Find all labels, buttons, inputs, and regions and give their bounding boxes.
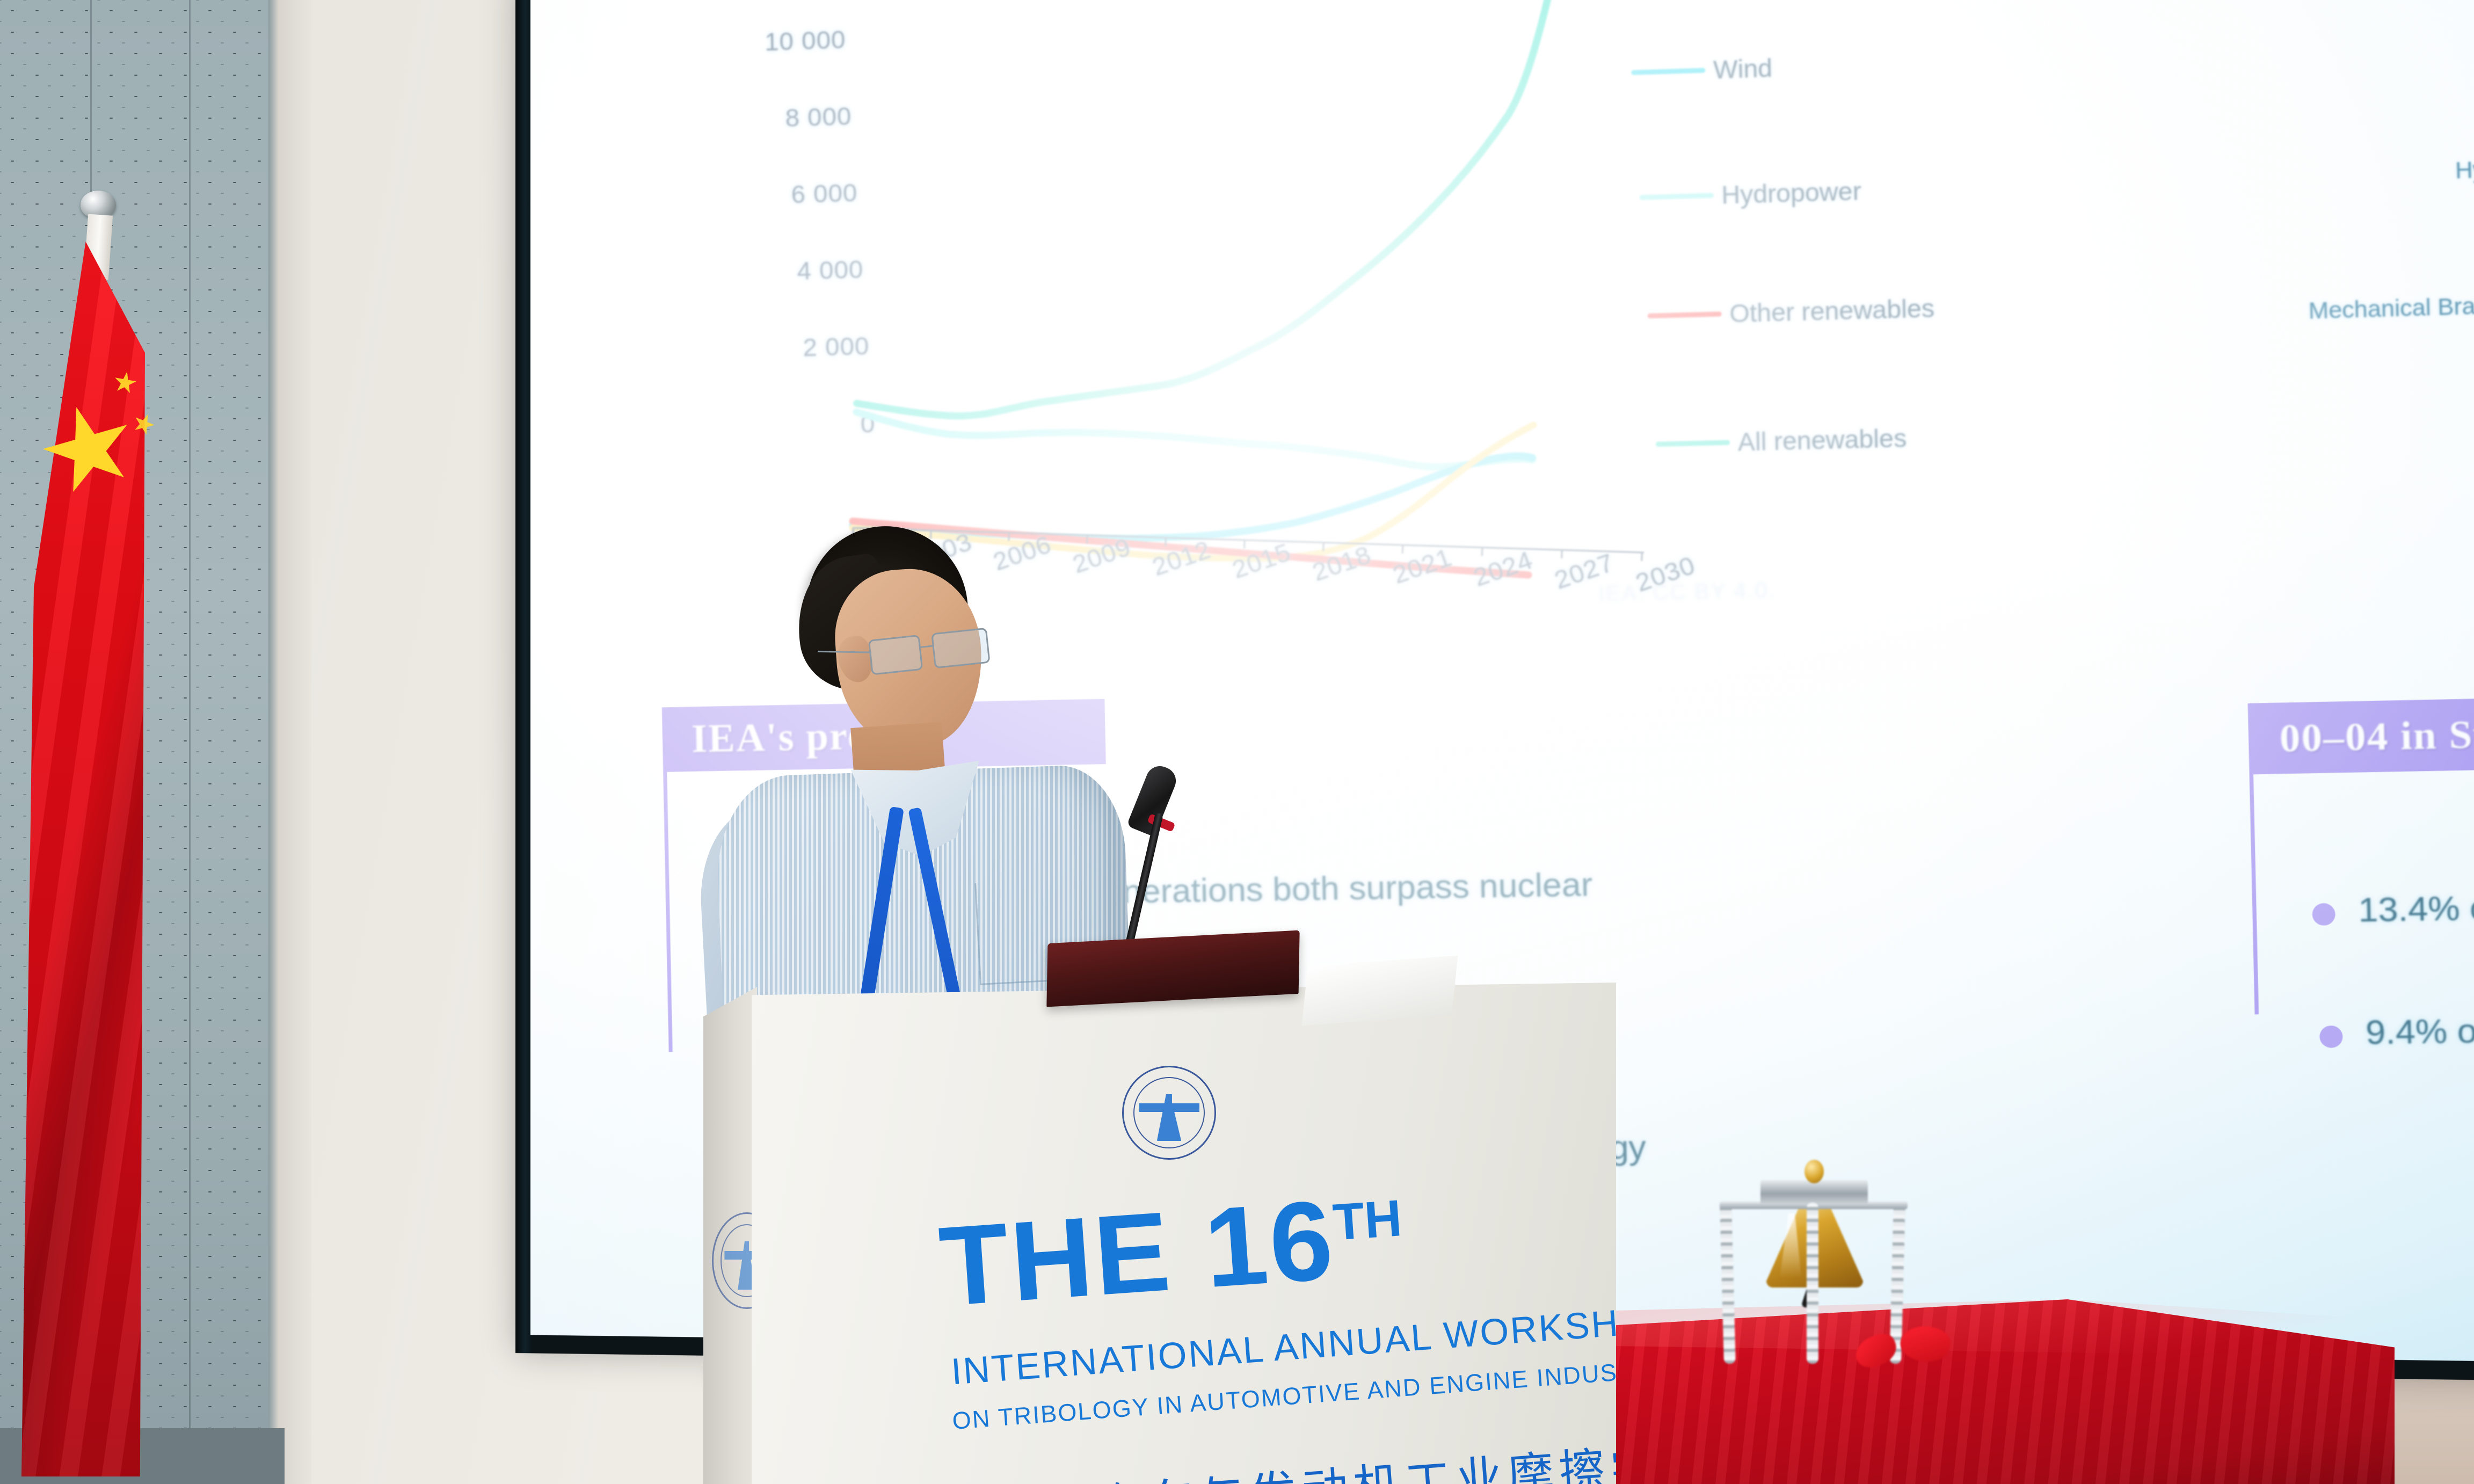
- screenshot-stage: 12 000 10 000 8 000 6 000 4 000 2 000 0: [0, 0, 2474, 1484]
- legend-swatch-all-renewables: [1656, 440, 1730, 447]
- podium-headline: THE 16TH: [936, 1179, 1407, 1323]
- ceremonial-bell[interactable]: [1705, 1144, 1919, 1353]
- legend-label: Other renewables: [1729, 293, 1935, 329]
- wall-corner-edge-light: [279, 0, 311, 1484]
- bullet-item: 9.4% of downtime: [2319, 1009, 2474, 1053]
- presenter-papers: [1302, 956, 1458, 1026]
- screen-bezel: [515, 0, 532, 1353]
- pie-label-mechanical-brakes: Mechanical Brakes 1.2: [2308, 290, 2474, 324]
- legend-label: Wind: [1713, 53, 1773, 85]
- slide-title: 00–04 in Sweden: [2279, 709, 2474, 761]
- series-path-all-renewables: [856, 0, 1548, 433]
- podium-headline-ordinal: TH: [1331, 1189, 1403, 1252]
- bell-finial-icon: [1804, 1160, 1824, 1183]
- slide-sweden-stats: 00–04 in Sweden 13.4% of failure 9.4% of…: [2221, 683, 2474, 1259]
- legend-label: Hydropower: [1721, 176, 1862, 210]
- line-chart-plot: 12 000 10 000 8 000 6 000 4 000 2 000 0: [738, 0, 1610, 600]
- legend-swatch-other-renewables: [1648, 311, 1722, 318]
- pie-label-hydraulics: Hydraulics 13.3: [2455, 152, 2474, 184]
- legend-swatch-hydropower: [1640, 193, 1714, 200]
- podium-headline-main: THE 16: [936, 1176, 1339, 1330]
- legend-item-wind: Wind: [1631, 53, 1773, 87]
- slide-title-band: 00–04 in Sweden: [2250, 693, 2474, 774]
- iea-credit-text: IEA. CC BY 4.0.: [1598, 578, 1776, 607]
- legend-label: All renewables: [1737, 423, 1907, 457]
- podium-front-panel: THE 16TH INTERNATIONAL ANNUAL WORKSHOP O…: [752, 983, 1616, 1484]
- podium-front-logo-icon: [1122, 1066, 1216, 1160]
- slide-pie-chart: …on of Number Entire unit 2.7 Structure …: [2219, 0, 2474, 660]
- glasses-lens-left: [868, 635, 923, 675]
- line-chart-legend: Solar PV Wind Hydropower Other renewable…: [1618, 0, 2118, 565]
- glasses-bridge: [921, 645, 934, 648]
- legend-item-all-renewables: All renewables: [1655, 423, 1907, 459]
- bullet-label: 9.4% of downtime: [2365, 1009, 2474, 1052]
- bell-yoke: [1760, 1180, 1868, 1205]
- bell-stand-leg: [1720, 1203, 1736, 1364]
- legend-swatch-wind: [1631, 68, 1705, 75]
- logo-crossbar-shape: [1139, 1103, 1199, 1112]
- bullet-item: 13.4% of failure: [2312, 886, 2474, 931]
- presenter-laptop[interactable]: [1046, 930, 1299, 1007]
- lectern-podium: THE 16TH INTERNATIONAL ANNUAL WORKSHOP O…: [703, 961, 1638, 1484]
- legend-item-hydropower: Hydropower: [1639, 176, 1861, 212]
- bell-stand-leg: [1807, 1203, 1818, 1364]
- bullet-dot-icon: [2312, 903, 2335, 926]
- glasses-lens-right: [931, 628, 990, 669]
- legend-item-other-renewables: Other renewables: [1647, 293, 1935, 331]
- podium-side-panel: [703, 987, 757, 1484]
- bullet-label: 13.4% of failure: [2358, 886, 2474, 930]
- bullet-dot-icon: [2319, 1025, 2343, 1048]
- chinese-flag: [32, 161, 225, 1484]
- series-path-hydropower: [855, 412, 1533, 470]
